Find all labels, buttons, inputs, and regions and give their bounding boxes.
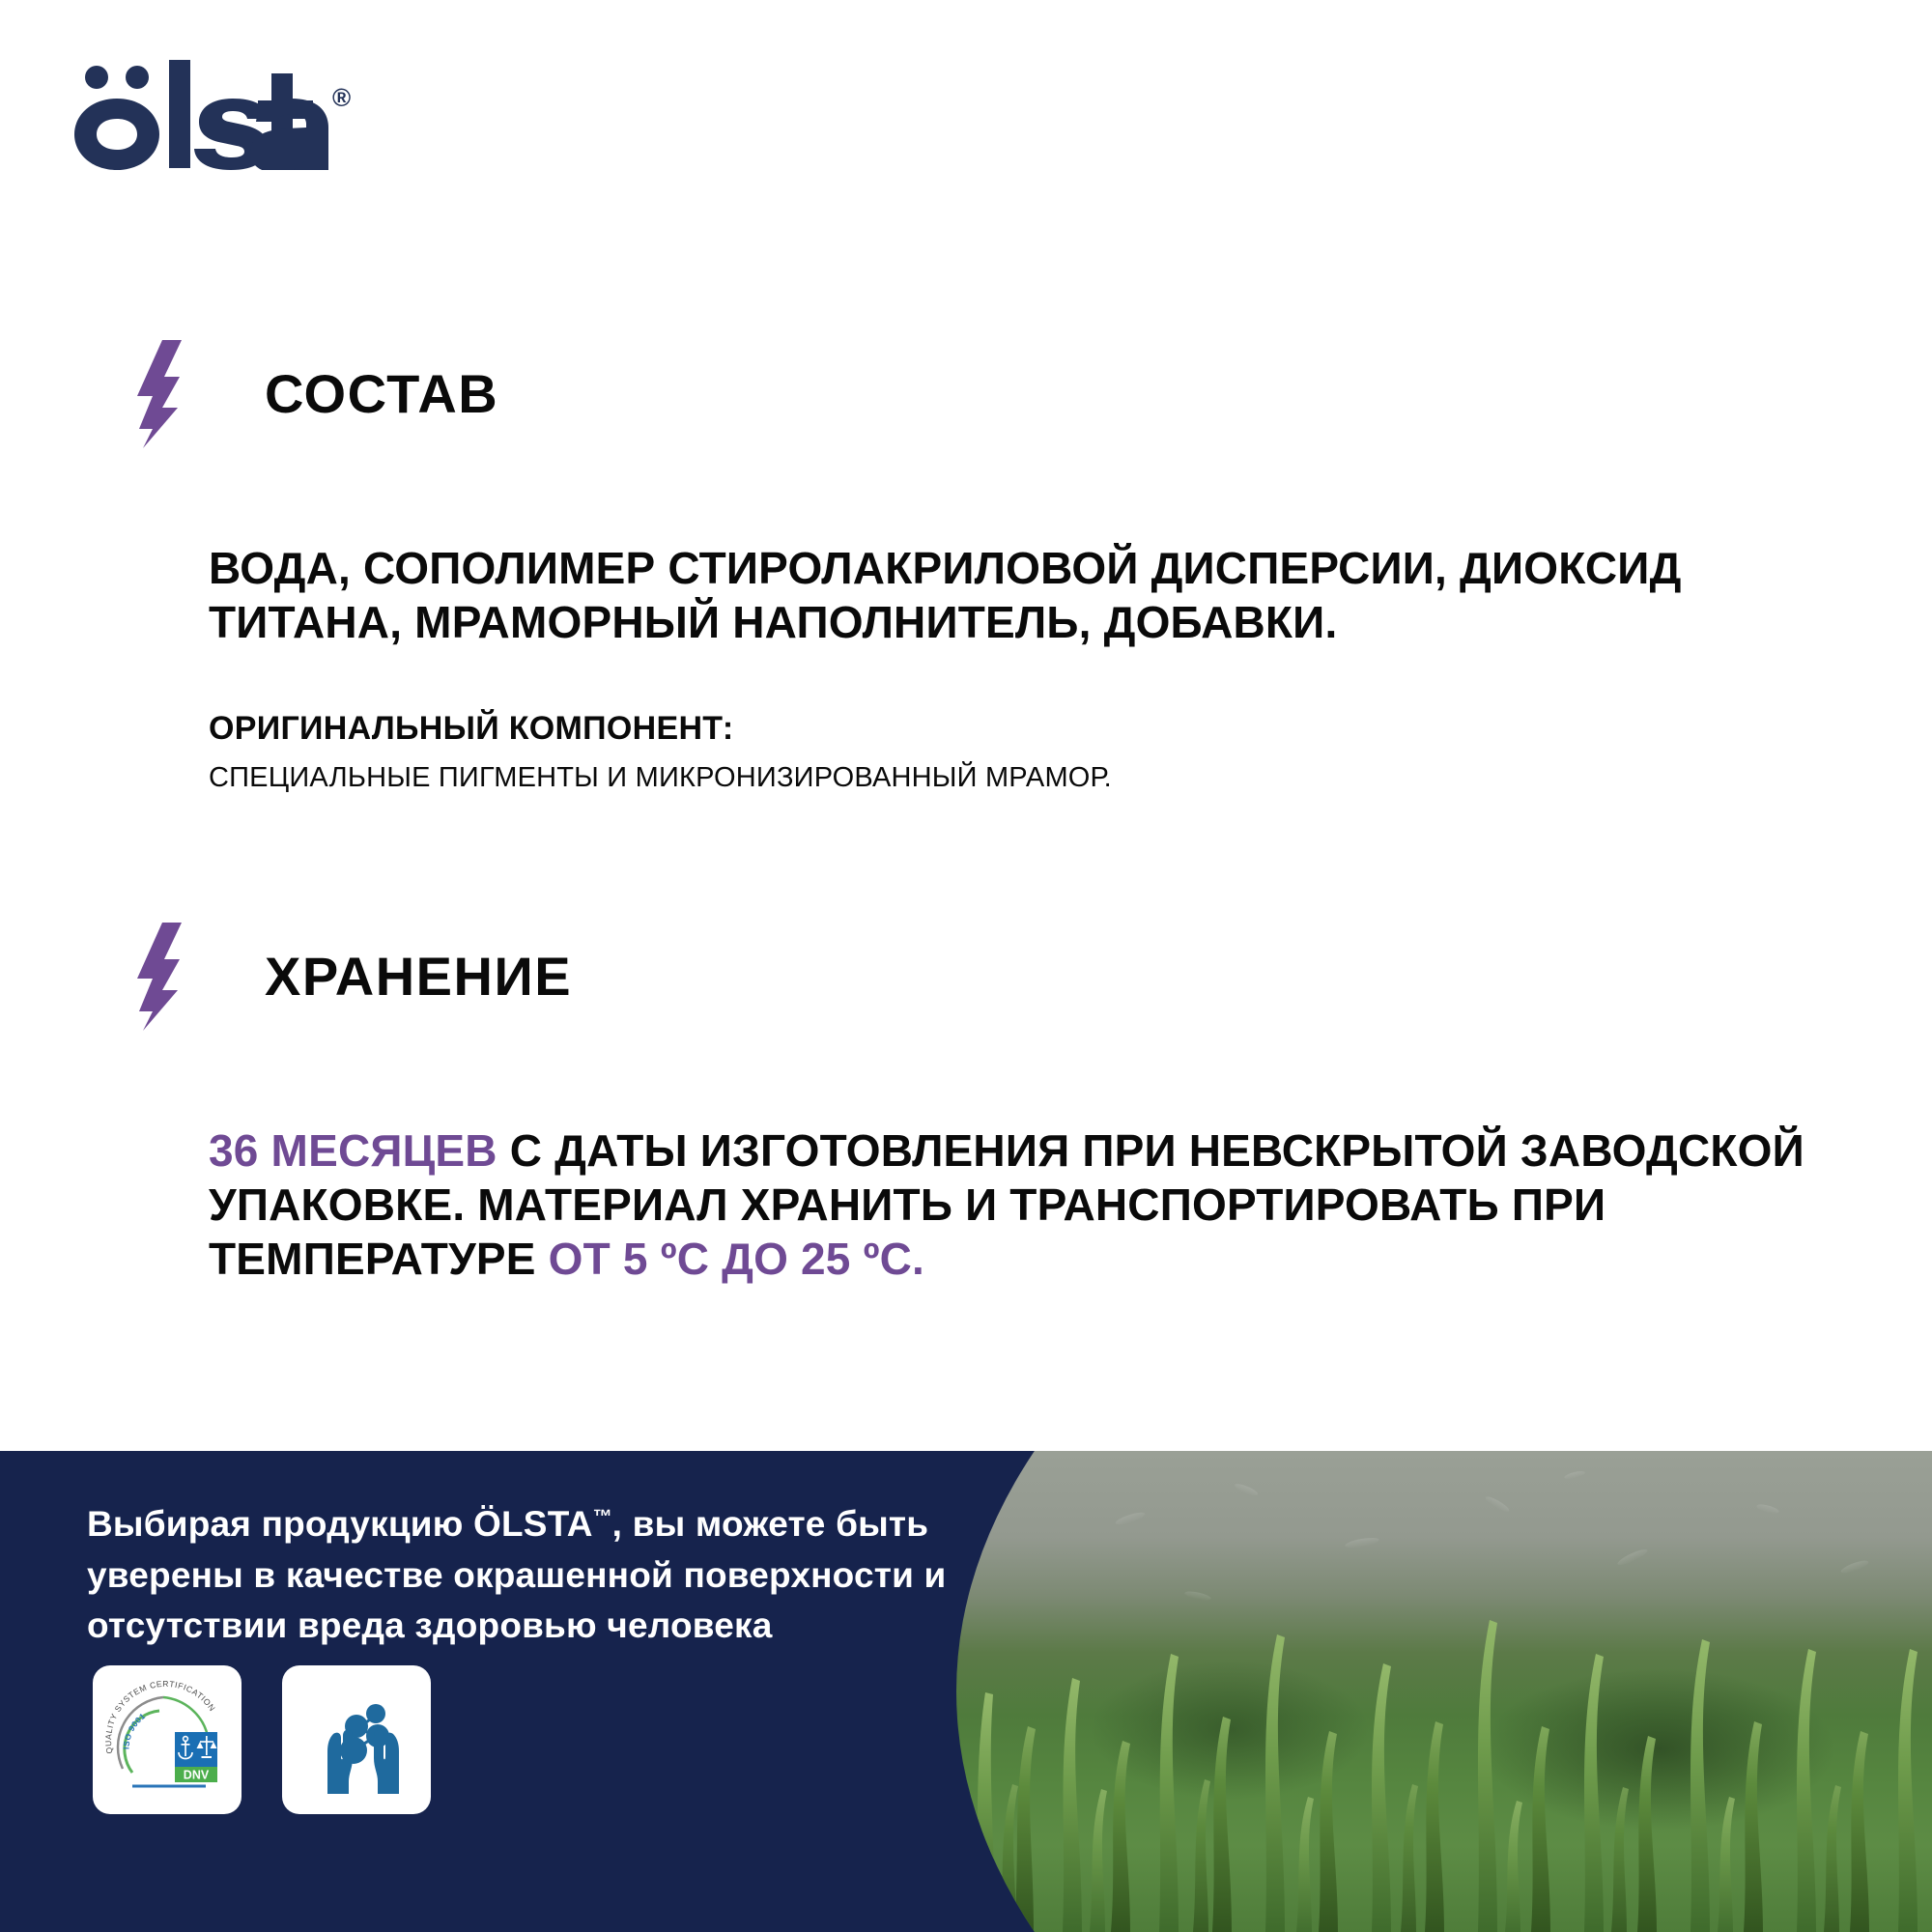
grass-and-painted-wall-photo [956, 1451, 1932, 1932]
product-info-page: ® СОСТАВ ВОДА, СОПОЛИМЕР СТИРОЛАКРИЛОВОЙ… [0, 0, 1932, 1932]
registered-trademark-mark: ® [332, 83, 351, 113]
certification-badges: QUALITY SYSTEM CERTIFICATION ISO 9001 [93, 1665, 431, 1814]
svg-text:ISO 9001: ISO 9001 [122, 1711, 148, 1749]
hands-molecules-icon [298, 1682, 414, 1798]
original-component-text: СПЕЦИАЛЬНЫЕ ПИГМЕНТЫ И МИКРОНИЗИРОВАННЫЙ… [209, 760, 1806, 795]
iso-9001-text: ISO 9001 [122, 1711, 148, 1749]
grass-blades-overlay [956, 1451, 1932, 1932]
trademark-mark: ™ [593, 1507, 612, 1528]
brand-logo: ® [70, 56, 351, 170]
olsta-wordmark-icon [70, 56, 328, 170]
storage-conditions-text: 36 МЕСЯЦЕВ С ДАТЫ ИЗГОТОВЛЕНИЯ ПРИ НЕВСК… [209, 1123, 1806, 1286]
footer-statement-part1: Выбирая продукцию ÖLSTA [87, 1504, 593, 1544]
iso-9001-dnv-certification-badge: QUALITY SYSTEM CERTIFICATION ISO 9001 [93, 1665, 241, 1814]
storage-duration: 36 МЕСЯЦЕВ [209, 1125, 497, 1176]
storage-temperature-range: ОТ 5 ºC ДО 25 ºC. [549, 1234, 924, 1284]
section-sostav-body-block: ВОДА, СОПОЛИМЕР СТИРОЛАКРИЛОВОЙ ДИСПЕРСИ… [0, 541, 1932, 795]
section-sostav-title: СОСТАВ [265, 367, 498, 421]
dnv-label: DNV [184, 1769, 210, 1782]
section-hranenie-body-block: 36 МЕСЯЦЕВ С ДАТЫ ИЗГОТОВЛЕНИЯ ПРИ НЕВСК… [0, 1123, 1932, 1286]
section-hranenie-header: ХРАНЕНИЕ [0, 923, 1932, 1031]
section-hranenie-title: ХРАНЕНИЕ [265, 950, 572, 1004]
hands-holding-molecules-badge [282, 1665, 431, 1814]
section-sostav-header: СОСТАВ [0, 340, 1932, 448]
lightning-bolt-icon [135, 340, 207, 448]
lightning-bolt-icon [135, 923, 207, 1031]
section-sostav: СОСТАВ ВОДА, СОПОЛИМЕР СТИРОЛАКРИЛОВОЙ Д… [0, 340, 1932, 795]
section-sostav-body: ВОДА, СОПОЛИМЕР СТИРОЛАКРИЛОВОЙ ДИСПЕРСИ… [209, 541, 1806, 649]
original-component-label: ОРИГИНАЛЬНЫЙ КОМПОНЕНТ: [209, 709, 1806, 749]
section-hranenie: ХРАНЕНИЕ 36 МЕСЯЦЕВ С ДАТЫ ИЗГОТОВЛЕНИЯ … [0, 923, 1932, 1286]
footer-statement: Выбирая продукцию ÖLSTA™, вы можете быть… [87, 1499, 1014, 1652]
dnv-iso-9001-icon: QUALITY SYSTEM CERTIFICATION ISO 9001 [99, 1672, 235, 1807]
